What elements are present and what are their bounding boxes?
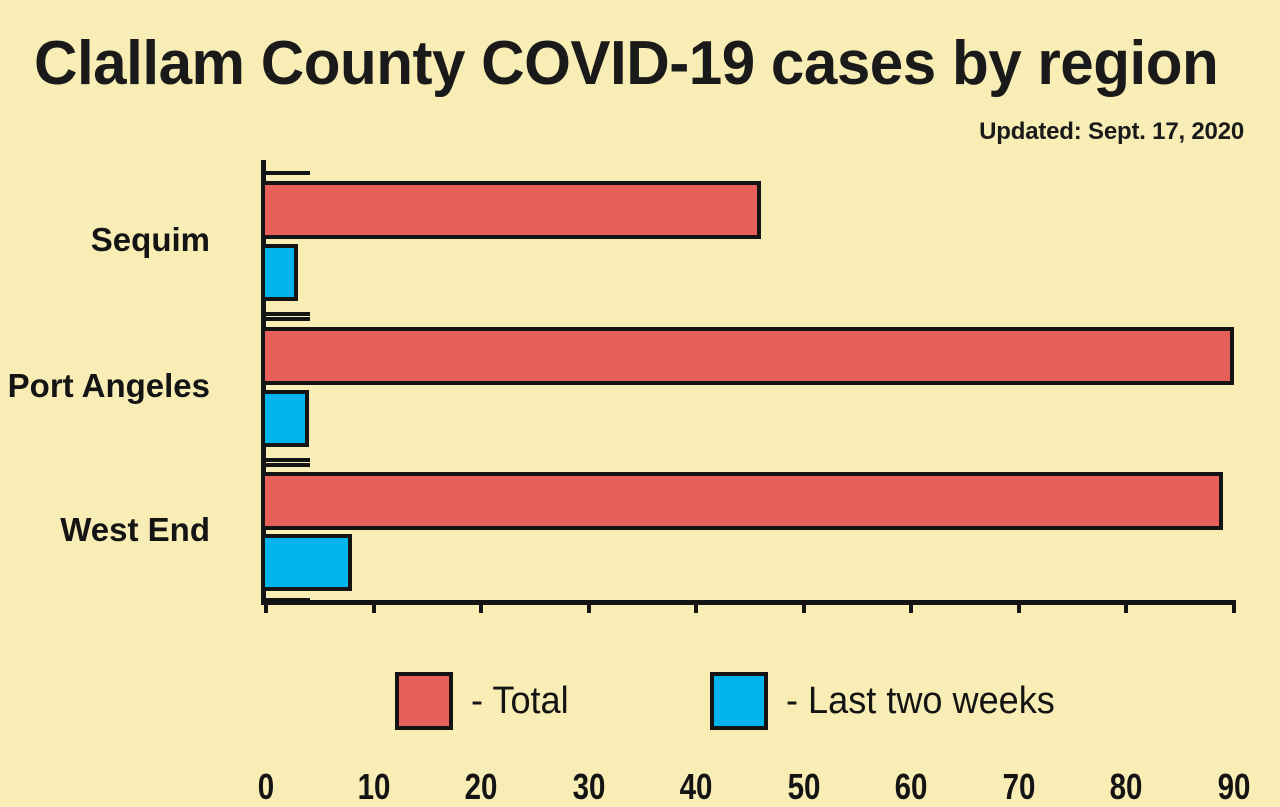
x-tick-70 — [1017, 600, 1021, 613]
y-group-tick-0-1 — [266, 312, 310, 316]
category-label-port-angeles: Port Angeles — [8, 368, 210, 404]
x-tick-label-10: 10 — [349, 768, 398, 806]
total-swatch-icon — [395, 672, 453, 730]
x-tick-label-30: 30 — [564, 768, 613, 806]
x-tick-label-0: 0 — [241, 768, 290, 806]
legend-item-last-two-weeks: - Last two weeks — [710, 672, 1069, 730]
x-tick-80 — [1124, 600, 1128, 613]
chart-legend: - Total - Last two weeks — [0, 672, 1280, 742]
x-tick-60 — [909, 600, 913, 613]
x-tick-label-60: 60 — [887, 768, 936, 806]
legend-label-total: - Total — [471, 680, 569, 722]
y-group-tick-1-1 — [266, 458, 310, 462]
bar-last-two-weeks-sequim — [261, 244, 298, 301]
x-tick-40 — [694, 600, 698, 613]
y-group-tick-0-0 — [266, 171, 310, 175]
y-group-tick-2-0 — [266, 463, 310, 467]
bar-total-sequim — [261, 181, 761, 239]
x-tick-20 — [479, 600, 483, 613]
x-tick-90 — [1232, 600, 1236, 613]
x-tick-10 — [372, 600, 376, 613]
chart-title: Clallam County COVID-19 cases by region — [34, 30, 1213, 98]
bar-last-two-weeks-port-angeles — [261, 390, 309, 447]
x-tick-label-40: 40 — [672, 768, 721, 806]
x-tick-label-20: 20 — [457, 768, 506, 806]
legend-item-total: - Total — [395, 672, 574, 730]
category-label-sequim: Sequim — [91, 222, 210, 258]
y-group-tick-1-0 — [266, 317, 310, 321]
x-axis-line — [261, 600, 1234, 605]
x-tick-label-70: 70 — [994, 768, 1043, 806]
x-tick-label-90: 90 — [1209, 768, 1258, 806]
legend-label-last-two-weeks: - Last two weeks — [786, 680, 1055, 722]
bar-total-west-end — [261, 472, 1223, 530]
x-tick-label-50: 50 — [779, 768, 828, 806]
x-tick-50 — [802, 600, 806, 613]
category-label-west-end: West End — [60, 512, 210, 548]
covid-cases-bar-chart: Clallam County COVID-19 cases by region … — [0, 0, 1280, 767]
updated-date-label: Updated: Sept. 17, 2020 — [979, 118, 1244, 146]
recent-swatch-icon — [710, 672, 768, 730]
x-tick-label-80: 80 — [1102, 768, 1151, 806]
bar-last-two-weeks-west-end — [261, 534, 352, 591]
x-tick-30 — [587, 600, 591, 613]
bar-total-port-angeles — [261, 327, 1234, 385]
y-group-tick-2-1 — [266, 598, 310, 602]
plot-area: 0102030405060708090 SequimPort AngelesWe… — [266, 160, 1234, 600]
